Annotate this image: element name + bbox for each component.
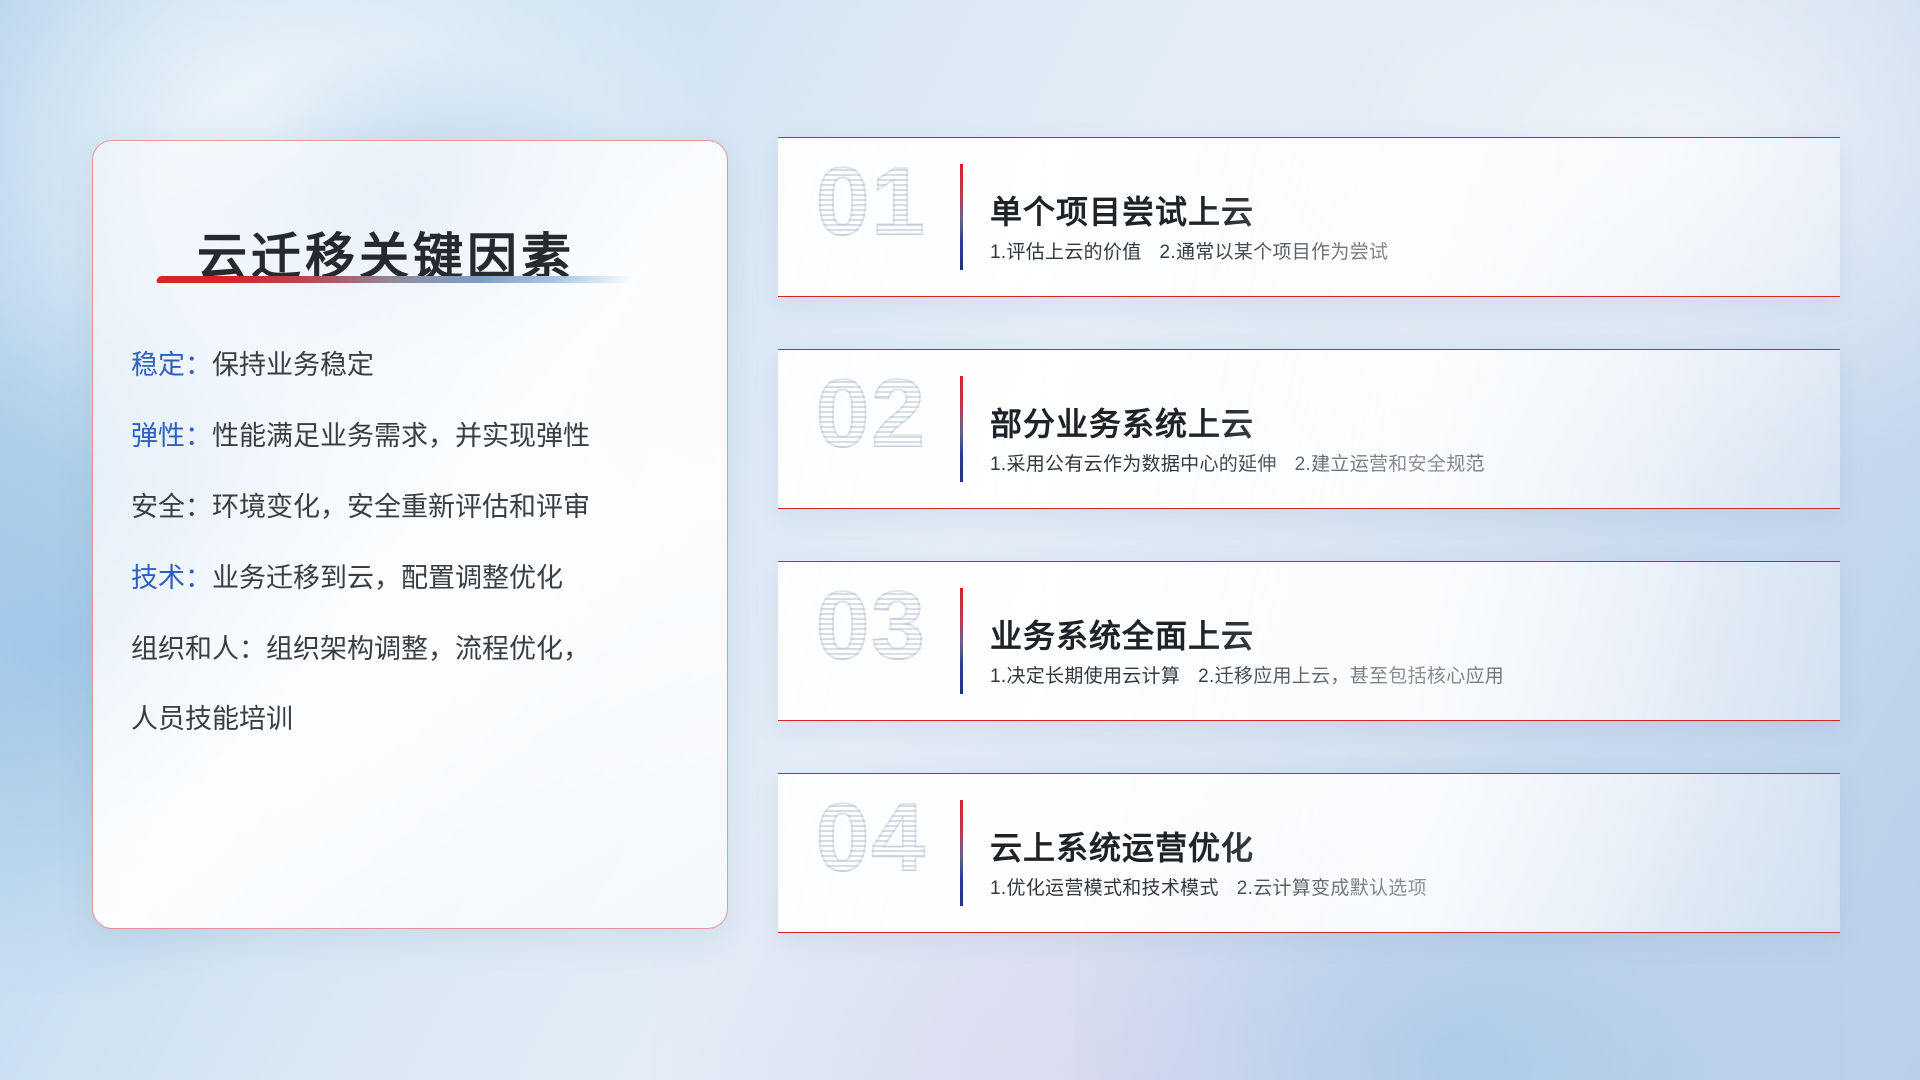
stage-subtitle: 1.采用公有云作为数据中心的延伸2.建立运营和安全规范 — [990, 449, 1485, 476]
factor-label: 弹性： — [131, 421, 212, 451]
factor-text: 保持业务稳定 — [212, 350, 374, 380]
factor-label: 安全： — [131, 492, 212, 522]
stage-card-04[interactable]: 04 云上系统运营优化 1.优化运营模式和技术模式2.云计算变成默认选项 — [778, 773, 1840, 933]
factor-item-elasticity: 弹性：性能满足业务需求，并实现弹性 — [131, 417, 705, 456]
stage-number: 02 — [816, 366, 927, 462]
stage-title: 单个项目尝试上云 — [990, 187, 1254, 233]
stage-subtitle: 1.决定长期使用云计算2.迁移应用上云，甚至包括核心应用 — [990, 661, 1504, 688]
stage-title: 部分业务系统上云 — [990, 399, 1254, 445]
stage-point-2: 2.云计算变成默认选项 — [1237, 878, 1427, 899]
stage-title: 云上系统运营优化 — [990, 823, 1254, 869]
stage-point-1: 1.采用公有云作为数据中心的延伸 — [990, 454, 1277, 475]
factor-text: 人员技能培训 — [131, 704, 293, 734]
stage-title: 业务系统全面上云 — [990, 611, 1254, 657]
factor-text: 业务迁移到云，配置调整优化 — [212, 563, 563, 593]
factor-item-security: 安全：环境变化，安全重新评估和评审 — [131, 488, 705, 527]
stage-accent-bar — [960, 588, 963, 694]
title-underline-bar — [156, 276, 633, 283]
key-factors-panel: 云迁移关键因素 稳定：保持业务稳定 弹性：性能满足业务需求，并实现弹性 安全：环… — [92, 140, 728, 929]
migration-stage-list: 01 单个项目尝试上云 1.评估上云的价值2.通常以某个项目作为尝试 02 部分… — [778, 137, 1840, 985]
stage-card-03[interactable]: 03 业务系统全面上云 1.决定长期使用云计算2.迁移应用上云，甚至包括核心应用 — [778, 561, 1840, 721]
stage-card-02[interactable]: 02 部分业务系统上云 1.采用公有云作为数据中心的延伸2.建立运营和安全规范 — [778, 349, 1840, 509]
stage-number: 03 — [816, 578, 927, 674]
stage-point-2: 2.迁移应用上云，甚至包括核心应用 — [1198, 666, 1504, 687]
stage-point-2: 2.建立运营和安全规范 — [1295, 454, 1485, 475]
stage-subtitle: 1.评估上云的价值2.通常以某个项目作为尝试 — [990, 237, 1388, 264]
stage-point-1: 1.优化运营模式和技术模式 — [990, 878, 1219, 899]
factor-text: 组织架构调整，流程优化， — [266, 634, 590, 664]
stage-point-1: 1.决定长期使用云计算 — [990, 666, 1180, 687]
factor-item-technology: 技术：业务迁移到云，配置调整优化 — [131, 559, 705, 598]
stage-accent-bar — [960, 800, 963, 906]
factor-text: 环境变化，安全重新评估和评审 — [212, 492, 590, 522]
stage-point-2: 2.通常以某个项目作为尝试 — [1160, 242, 1389, 263]
factor-text: 性能满足业务需求，并实现弹性 — [212, 421, 590, 451]
stage-subtitle: 1.优化运营模式和技术模式2.云计算变成默认选项 — [990, 873, 1427, 900]
factor-item-stability: 稳定：保持业务稳定 — [131, 346, 705, 385]
factor-label: 稳定： — [131, 350, 212, 380]
factor-item-organization: 组织和人：组织架构调整，流程优化， — [131, 630, 705, 669]
stage-number: 01 — [816, 154, 927, 250]
stage-point-1: 1.评估上云的价值 — [990, 242, 1142, 263]
stage-accent-bar — [960, 164, 963, 270]
stage-card-01[interactable]: 01 单个项目尝试上云 1.评估上云的价值2.通常以某个项目作为尝试 — [778, 137, 1840, 297]
stage-accent-bar — [960, 376, 963, 482]
factor-list: 稳定：保持业务稳定 弹性：性能满足业务需求，并实现弹性 安全：环境变化，安全重新… — [131, 346, 705, 771]
factor-label: 组织和人： — [131, 634, 266, 664]
factor-item-organization-continued: 人员技能培训 — [131, 700, 705, 739]
factor-label: 技术： — [131, 563, 212, 593]
stage-number: 04 — [816, 790, 927, 886]
